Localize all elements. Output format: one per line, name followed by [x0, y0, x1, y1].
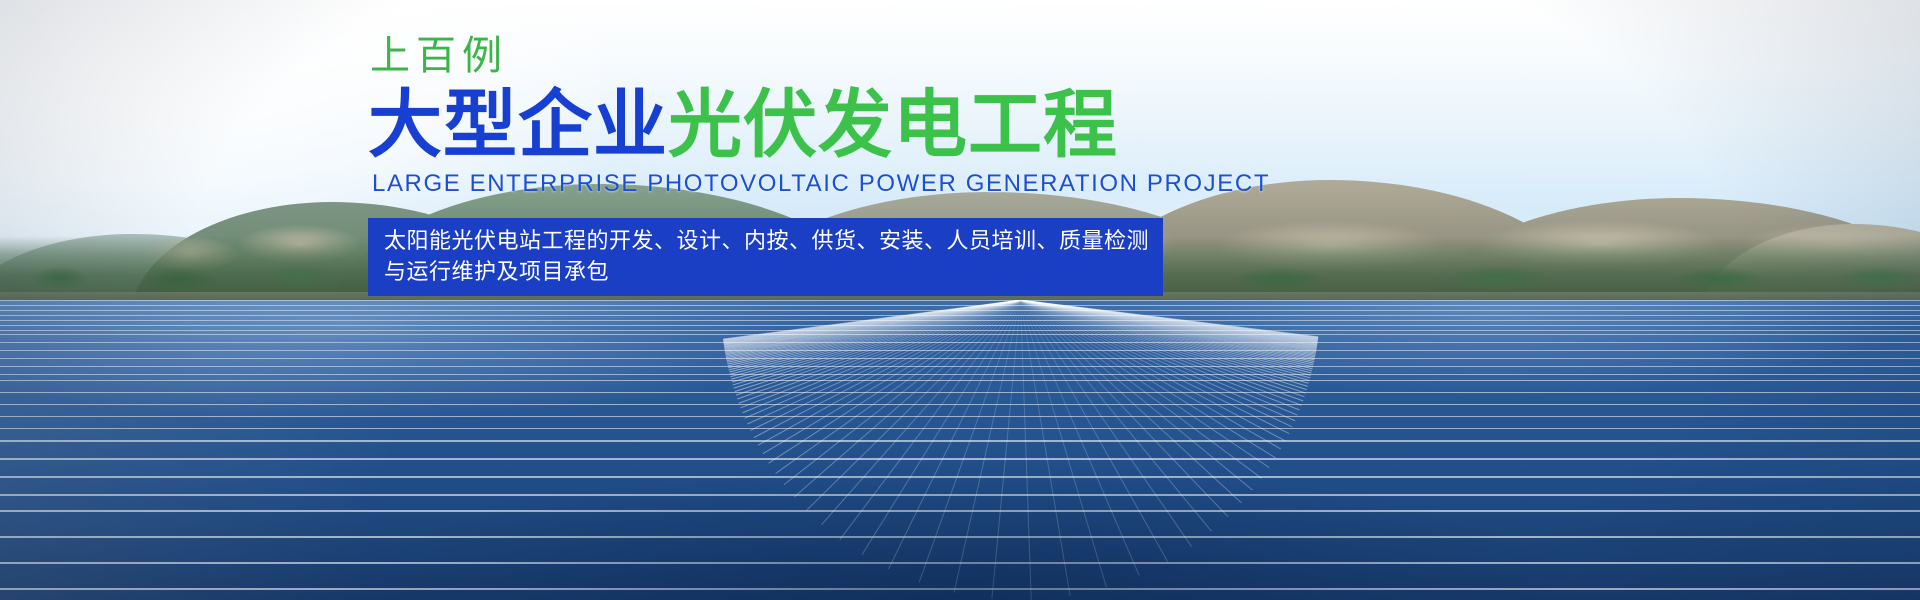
description-line-1: 太阳能光伏电站工程的开发、设计、内按、供货、安装、人员培训、质量检测	[384, 225, 1149, 256]
banner-headline: 大型企业光伏发电工程	[368, 84, 1568, 166]
description-box: 太阳能光伏电站工程的开发、设计、内按、供货、安装、人员培训、质量检测 与运行维护…	[368, 218, 1163, 296]
banner-english-subtitle: LARGE ENTERPRISE PHOTOVOLTAIC POWER GENE…	[372, 170, 1568, 198]
banner-eyebrow: 上百例	[370, 34, 1568, 78]
solar-panel-field	[0, 300, 1920, 600]
description-line-2: 与运行维护及项目承包	[384, 256, 1149, 287]
headline-blue-text: 大型企业	[368, 83, 668, 166]
banner-text-block: 上百例 大型企业光伏发电工程 LARGE ENTERPRISE PHOTOVOL…	[368, 34, 1568, 296]
promotional-banner: 上百例 大型企业光伏发电工程 LARGE ENTERPRISE PHOTOVOL…	[0, 0, 1920, 600]
headline-green-text: 光伏发电工程	[668, 83, 1118, 166]
panel-mullions	[0, 300, 1920, 600]
